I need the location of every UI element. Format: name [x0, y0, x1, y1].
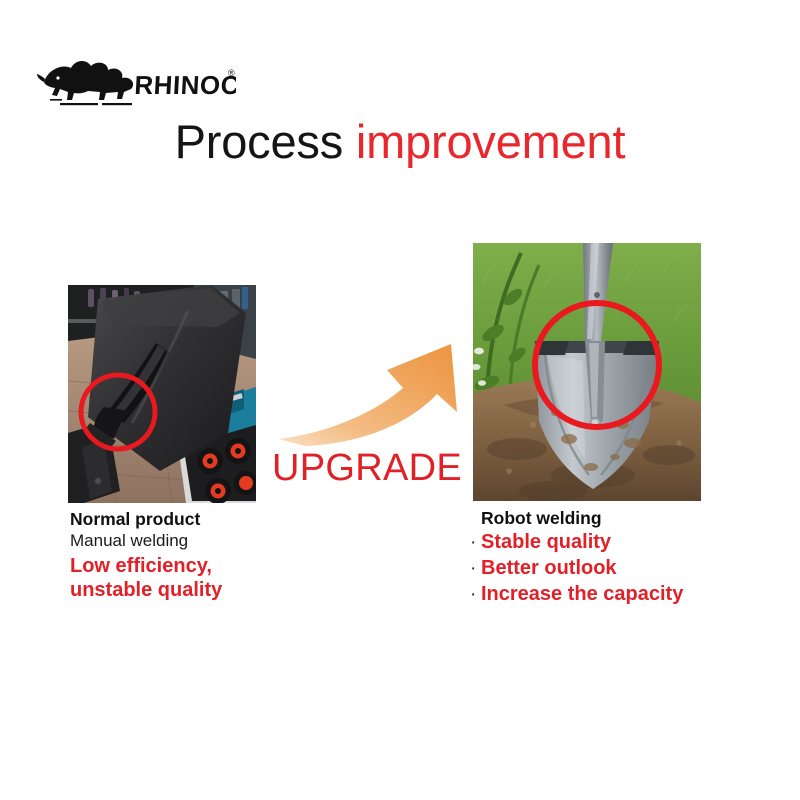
bullet-dot-icon: ·	[470, 531, 481, 555]
slide-canvas: RHINOCEROS ® Process improvement	[0, 0, 800, 800]
right-caption-bullet-2: Better outlook	[481, 556, 617, 581]
left-caption-heading: Normal product	[70, 509, 320, 530]
brand-logo: RHINOCEROS ®	[36, 56, 236, 108]
left-caption-note-1: Low efficiency,	[70, 554, 320, 578]
list-item: · Better outlook	[470, 556, 770, 581]
title-part-red: improvement	[356, 115, 625, 168]
right-caption: Robot welding · Stable quality · Better …	[470, 508, 770, 607]
title-part-black: Process	[175, 115, 343, 168]
bullet-dot-icon: ·	[470, 583, 481, 607]
list-item: · Stable quality	[470, 530, 770, 555]
page-title: Process improvement	[0, 116, 800, 168]
svg-text:RHINOCEROS: RHINOCEROS	[134, 70, 236, 100]
right-caption-bullet-1: Stable quality	[481, 530, 611, 555]
brand-wordmark: RHINOCEROS ®	[134, 68, 236, 100]
right-product-photo	[473, 243, 701, 501]
upgrade-label: UPGRADE	[272, 448, 452, 488]
left-product-photo	[68, 285, 256, 503]
left-caption-subheading: Manual welding	[70, 530, 320, 551]
bullet-dot-icon: ·	[470, 557, 481, 581]
list-item: · Increase the capacity	[470, 582, 770, 607]
upgrade-arrow	[275, 342, 465, 447]
right-caption-heading: Robot welding	[470, 508, 770, 529]
rhino-icon	[37, 61, 133, 105]
right-caption-bullet-3: Increase the capacity	[481, 582, 683, 607]
svg-text:®: ®	[228, 68, 235, 78]
left-caption-note-2: unstable quality	[70, 578, 320, 602]
arrow-shape	[279, 344, 457, 446]
left-caption: Normal product Manual welding Low effici…	[70, 509, 320, 602]
